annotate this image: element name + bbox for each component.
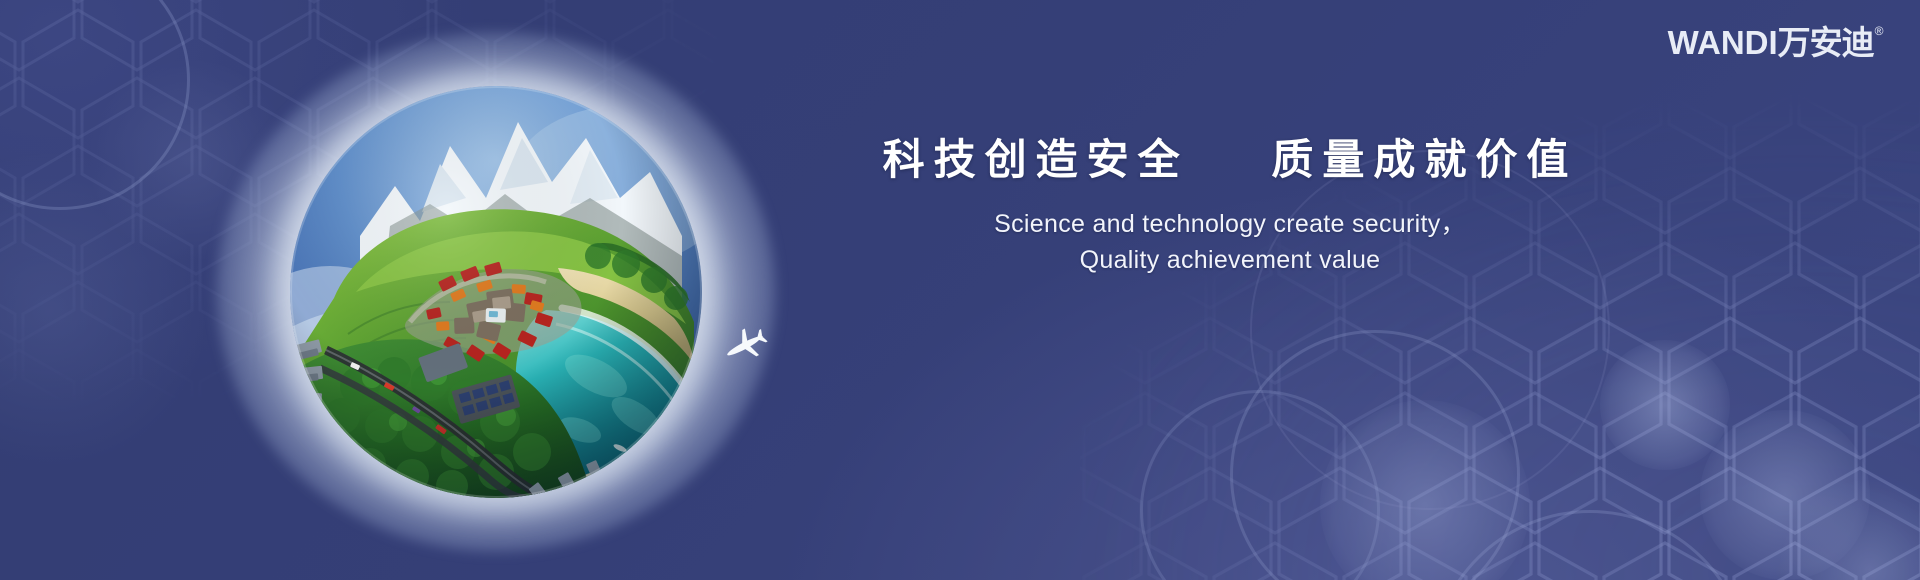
- logo-cjk-text: 万安迪: [1778, 26, 1874, 59]
- headline-slogan: 科技创造安全 质量成就价值: [790, 136, 1670, 183]
- banner-copy: 科技创造安全 质量成就价值 Science and technology cre…: [790, 136, 1670, 278]
- registered-trademark-icon: ®: [1875, 25, 1884, 37]
- subtitle-block: Science and technology create security， …: [790, 207, 1670, 278]
- company-logo[interactable]: WANDI 万安迪 ®: [1668, 26, 1884, 59]
- logo-latin-text: WANDI: [1668, 26, 1778, 59]
- subtitle-line-2: Quality achievement value: [790, 243, 1670, 279]
- subtitle-line-1: Science and technology create security，: [790, 207, 1670, 243]
- airplane-icon: [716, 324, 772, 368]
- tiny-planet-globe: [290, 86, 702, 498]
- globe-artwork: [196, 24, 796, 560]
- hero-banner: WANDI 万安迪 ® 科技创造安全 质量成就价值 Science and te…: [0, 0, 1920, 580]
